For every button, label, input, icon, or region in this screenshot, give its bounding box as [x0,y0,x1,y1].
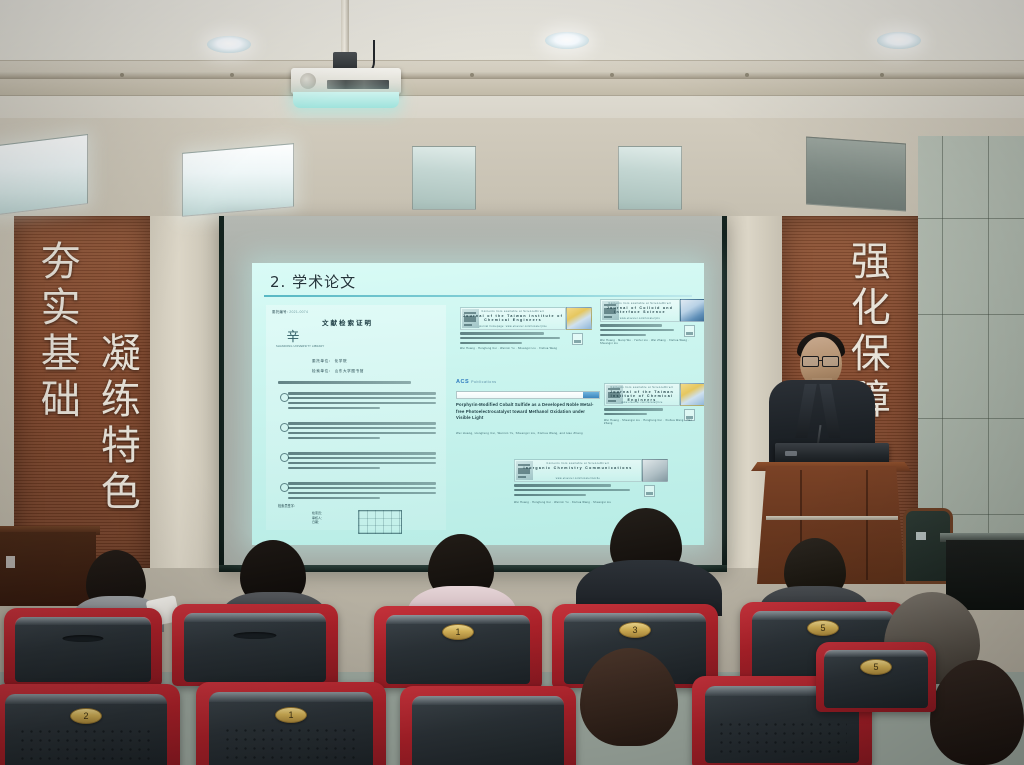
journal-card-1-authors: Wei Huang · Hongfeng Cui · Weimin Yu · S… [460,347,557,350]
featured-article: ACS Publications Porphyrin-Modified Coba… [456,379,600,445]
ceiling-rail [0,72,1024,79]
journal-card-3-url: www.elsevier.com/locate/jtice [605,402,679,404]
journal-card-1-pdf-icon[interactable] [572,333,583,345]
journal-card-4: Contents lists available at ScienceDirec… [514,459,662,507]
journal-card-2-cover-icon [680,299,704,322]
acs-logo-icon: ACS Publications [456,379,497,385]
chair-highlight [184,613,327,622]
chair-vent [62,635,103,642]
certificate-stamp-icon [358,510,402,534]
banner-left-front-text: 夯实基础 [36,240,77,424]
audience-hair-front-3 [930,660,1024,765]
laptop-logo-icon [785,451,797,456]
journal-card-1-name: Journal of the Taiwan Institute of Chemi… [461,314,565,322]
chair-row2-3[interactable]: 1 [374,606,542,688]
journal-card-4-publisher: Contents lists available at ScienceDirec… [515,462,641,465]
projector-ports [327,80,389,89]
tiled-wall-right [918,136,1024,566]
chair-perforation [223,726,360,763]
chair-perforation [717,720,847,757]
featured-article-authors: Wei Huang, Hongfeng Cui, Weimin Yu, Shua… [456,431,598,435]
laptop-icon [775,443,889,465]
journal-card-2-abstract [600,324,674,339]
journal-card-1: Contents lists available at ScienceDirec… [460,307,590,353]
journal-card-4-abstract [514,484,630,499]
presenter-glasses-left [802,356,819,367]
ceiling [0,0,1024,118]
journal-card-2-publisher: Contents lists available at ScienceDirec… [601,302,679,305]
certificate-entry-1 [288,392,436,412]
podium-seam-right [866,470,868,580]
podium-trim [766,516,898,520]
projector-beam-glow [293,92,399,108]
presentation-slide: 2. 学术论文 委托编号: 2021-0074 辛 SHANDONG UNIVE… [252,263,704,545]
journal-card-1-header: Contents lists available at ScienceDirec… [460,307,566,330]
search-go-button[interactable] [583,392,599,398]
downlight-center-icon [545,32,589,49]
journal-card-2-authors: Wei Huang · Meiqi Wu · Yunfei Liu · Wei … [600,339,700,345]
ceiling-panel-4 [618,146,682,210]
certificate-code-value: 2021-0074 [289,310,308,314]
chair-highlight [824,650,927,658]
journal-card-2-name: Journal of Colloid and Interface Science [601,306,679,314]
seat-number-plate: 3 [619,622,651,638]
left-cabinet-plate [6,556,15,568]
journal-card-3: Contents lists available at ScienceDirec… [604,383,700,425]
chair-highlight [5,694,167,704]
audience-head-front-1 [580,648,678,746]
featured-article-title[interactable]: Porphyrin-Modified Cobalt Sulfide as a D… [456,402,598,422]
journal-card-1-url: journal homepage: www.elsevier.com/locat… [461,326,565,328]
chair-pad [184,613,327,682]
journal-card-3-name: Journal of the Taiwan Institute of Chemi… [605,390,679,402]
seat-number-plate: 2 [70,708,102,724]
lecture-hall-photo: 夯实基础 凝练特色 强化保障 [0,0,1024,765]
chair-row1-5[interactable]: 5 [816,642,936,712]
certificate-footer-label: 检索员签字： [278,503,297,508]
ceiling-panel-1 [0,134,88,216]
downlight-right-icon [877,32,921,49]
journal-card-3-authors: Wei Huang · Shuangxi Liu · Hongfeng Cui … [604,419,700,425]
ceiling-panel-5 [806,137,906,212]
chair-row1-3[interactable] [400,686,576,765]
projector-lens-icon [300,73,316,89]
ceiling-panel-3 [412,146,476,210]
library-logo-subtext: SHANDONG UNIVERSITY LIBRARY [276,345,324,348]
audience-head-front-3 [930,660,1024,765]
wall-pier-left [150,216,222,568]
chair-highlight [386,615,530,624]
banner-left-back-text: 凝练特色 [96,332,137,516]
chair-pad [412,696,563,765]
journal-card-3-header: Contents lists available at ScienceDirec… [604,383,680,406]
journal-card-1-cover-icon [566,307,592,330]
seat-number-plate: 1 [442,624,474,640]
journal-card-3-publisher: Contents lists available at ScienceDirec… [605,386,679,389]
chair-perforation [18,727,153,763]
acs-logo-sub: Publications [471,380,496,384]
chair-row1-2[interactable]: 1 [196,682,386,765]
screen-edge-right [722,216,727,572]
journal-card-4-pdf-icon[interactable] [644,485,655,497]
journal-card-4-name: Inorganic Chemistry Communications [515,466,641,470]
certificate-code: 委托编号: 2021-0074 [272,309,308,314]
chair-highlight [15,617,151,626]
ceiling-panel-2 [182,143,294,217]
chair-highlight [209,692,372,702]
presenter-glasses-bridge [818,360,823,361]
journal-card-4-cover-icon [642,459,668,482]
downlight-left-icon [207,36,251,53]
seat-number-plate: 1 [275,707,307,723]
retrieval-certificate-document: 委托编号: 2021-0074 辛 SHANDONG UNIVERSITY LI… [266,305,446,530]
chair-pad [15,617,151,683]
chair-highlight [412,696,563,706]
journal-card-1-publisher: Contents lists available at ScienceDirec… [461,310,565,313]
certificate-field-1: 检索单位： 山东大学图书馆 [312,369,364,374]
journal-card-4-url: www.elsevier.com/locate/inoche [515,478,641,480]
seat-number-plate: 5 [807,620,839,636]
acs-logo-text: ACS [456,379,469,385]
screen-edge-left [219,216,224,572]
slide-title-rule [264,295,692,297]
search-input[interactable] [456,391,600,399]
seat-number-plate: 5 [860,659,892,675]
journal-card-2: Contents lists available at ScienceDirec… [600,299,700,345]
journal-card-2-header: Contents lists available at ScienceDirec… [600,299,680,322]
journal-card-1-abstract [460,332,560,347]
chair-row1-1[interactable]: 2 [0,684,180,765]
certificate-entry-3 [288,452,436,472]
journal-card-2-url: www.elsevier.com/locate/jcis [601,318,679,320]
certificate-field-0: 委托单位： 化学院 [312,359,347,364]
certificate-entry-2 [288,422,436,442]
library-logo-icon: 辛 [282,323,304,347]
left-cabinet [0,532,96,606]
journal-card-2-pdf-icon[interactable] [684,325,695,337]
slide-title: 2. 学术论文 [270,271,356,292]
certificate-signature-fields: 检索员：审核人：日期： [312,511,324,525]
journal-card-4-authors: Wei Huang · Hongfeng Cui · Weimin Yu · X… [514,501,611,504]
chair-row2-2[interactable] [172,604,338,686]
certificate-code-label: 委托编号: [272,310,288,314]
chair-row2-1[interactable] [4,608,162,686]
presenter-glasses-right [822,356,839,367]
side-chair-tag [916,532,926,540]
journal-card-4-header: Contents lists available at ScienceDirec… [514,459,642,482]
certificate-entry-4 [288,482,436,502]
journal-card-3-abstract [604,408,674,418]
audience-hair-front-1 [580,648,678,746]
journal-card-3-cover-icon [680,383,704,406]
certificate-intro [278,381,436,386]
certificate-heading: 文献检索证明 [322,317,373,327]
